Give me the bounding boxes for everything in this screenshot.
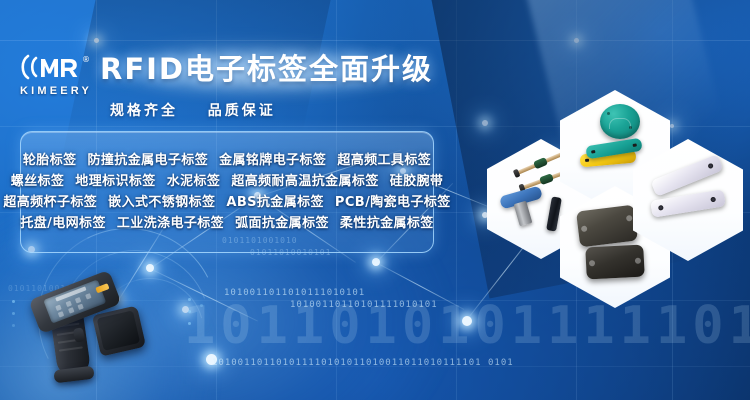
product-tag-list-panel: 轮胎标签 防撞抗金属电子标签 金属铭牌电子标签 超高频工具标签 螺丝标签 地理标… (20, 131, 434, 253)
svg-text:®: ® (82, 55, 90, 64)
subtitle-left: 规格齐全 (110, 102, 178, 118)
handheld-rfid-reader[interactable] (24, 272, 156, 396)
list-item[interactable]: 螺丝标签 (11, 175, 65, 188)
binary-large-text: 1011010101111101 (184, 296, 750, 356)
list-item[interactable]: 地理标识标签 (75, 175, 155, 188)
list-item[interactable]: PCB/陶瓷电子标签 (335, 196, 451, 209)
table-row: 轮胎标签 防撞抗金属电子标签 金属铭牌电子标签 超高频工具标签 (21, 150, 433, 171)
subtitle-right: 品质保证 (208, 102, 276, 118)
list-item[interactable]: 嵌入式不锈钢标签 (108, 196, 215, 209)
headline-block: RFID电子标签全面升级 (100, 46, 433, 88)
list-item[interactable]: 金属铭牌电子标签 (219, 154, 326, 167)
binary-line-3: 1010011011010111101010110100110110101111… (212, 358, 514, 368)
list-item[interactable]: 超高频耐高温抗金属标签 (231, 175, 378, 188)
list-item[interactable]: ABS抗金属标签 (226, 196, 324, 209)
rfid-promo-banner: 1011010101111101 1010011011010111010101 … (0, 0, 750, 400)
binary-line-2: 10100110110101111010101 (290, 300, 438, 310)
list-item[interactable]: 柔性抗金属标签 (340, 217, 434, 230)
list-item[interactable]: 轮胎标签 (23, 154, 77, 167)
list-item[interactable]: 托盘/电网标签 (20, 217, 106, 230)
brand-logo[interactable]: ® KIMEERY (14, 50, 98, 97)
table-row: 螺丝标签 地理标识标签 水泥标签 超高频耐高温抗金属标签 硅胶腕带 (21, 171, 433, 192)
page-title: RFID电子标签全面升级 (100, 46, 433, 88)
list-item[interactable]: 工业洗涤电子标签 (117, 217, 224, 230)
table-row: 托盘/电网标签 工业洗涤电子标签 弧面抗金属标签 柔性抗金属标签 (21, 213, 433, 234)
table-row: 超高频杯子标签 嵌入式不锈钢标签 ABS抗金属标签 PCB/陶瓷电子标签 (21, 192, 433, 213)
list-item[interactable]: 水泥标签 (167, 175, 221, 188)
list-item[interactable]: 超高频杯子标签 (3, 196, 97, 209)
list-item[interactable]: 超高频工具标签 (337, 154, 431, 167)
binary-line-1: 1010011011010111010101 (224, 288, 365, 298)
subtitle: 规格齐全 品质保证 (110, 100, 276, 120)
list-item[interactable]: 硅胶腕带 (390, 175, 444, 188)
reader-antenna (92, 305, 146, 356)
list-item[interactable]: 弧面抗金属标签 (235, 217, 329, 230)
list-item[interactable]: 防撞抗金属电子标签 (88, 154, 209, 167)
brand-name: KIMEERY (14, 85, 98, 97)
signal-wave-logo-icon: ® (14, 50, 98, 84)
